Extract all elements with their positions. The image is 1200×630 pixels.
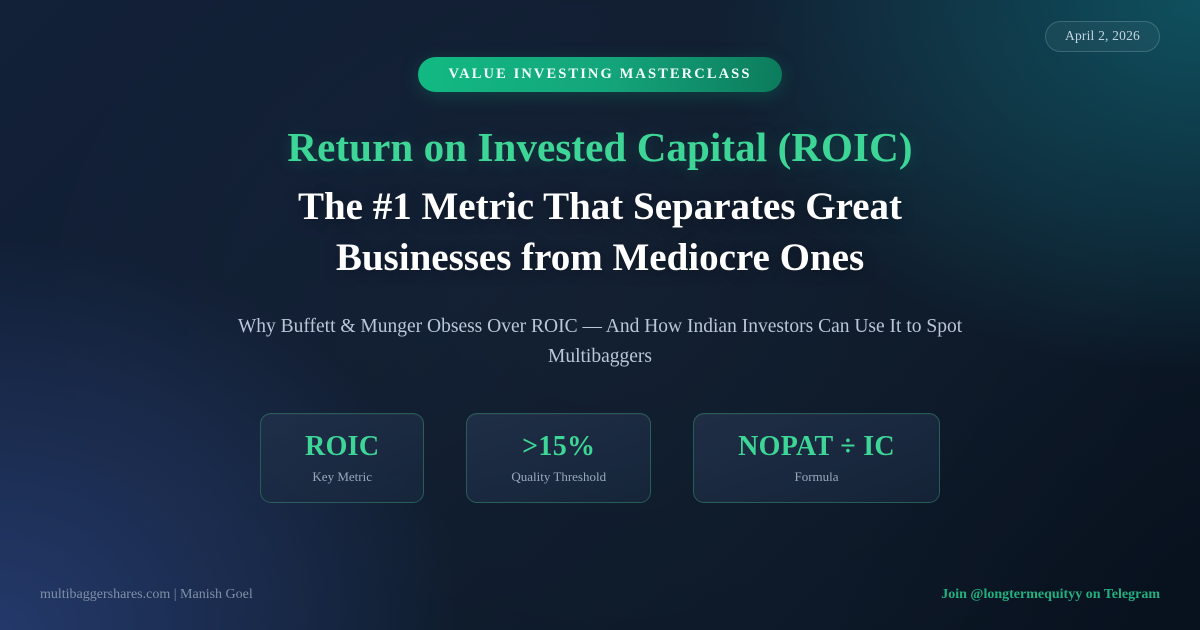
footer-telegram-cta[interactable]: Join @longtermequityy on Telegram bbox=[941, 587, 1160, 603]
stat-card-roic: ROIC Key Metric bbox=[260, 413, 424, 504]
footer-attribution: multibaggershares.com | Manish Goel bbox=[40, 587, 253, 603]
headline-main-line: The #1 Metric That Separates Great Busin… bbox=[220, 181, 980, 284]
stat-label: Quality Threshold bbox=[511, 470, 606, 484]
stat-card-formula: NOPAT ÷ IC Formula bbox=[693, 413, 940, 504]
footer: multibaggershares.com | Manish Goel Join… bbox=[0, 578, 1200, 612]
headline-accent-line: Return on Invested Capital (ROIC) bbox=[220, 122, 980, 174]
stat-value: ROIC bbox=[305, 431, 379, 462]
stat-label: Key Metric bbox=[312, 470, 372, 484]
page-title: Return on Invested Capital (ROIC) The #1… bbox=[220, 122, 980, 284]
stat-value: NOPAT ÷ IC bbox=[738, 431, 895, 462]
stat-value: >15% bbox=[522, 431, 595, 462]
stat-card-row: ROIC Key Metric >15% Quality Threshold N… bbox=[260, 413, 940, 504]
slide-canvas: April 2, 2026 VALUE INVESTING MASTERCLAS… bbox=[0, 0, 1200, 630]
stat-card-threshold: >15% Quality Threshold bbox=[466, 413, 651, 504]
slide-content: VALUE INVESTING MASTERCLASS Return on In… bbox=[0, 0, 1200, 560]
subtitle: Why Buffett & Munger Obsess Over ROIC — … bbox=[220, 312, 980, 373]
stat-label: Formula bbox=[794, 470, 838, 484]
category-badge: VALUE INVESTING MASTERCLASS bbox=[418, 57, 781, 93]
